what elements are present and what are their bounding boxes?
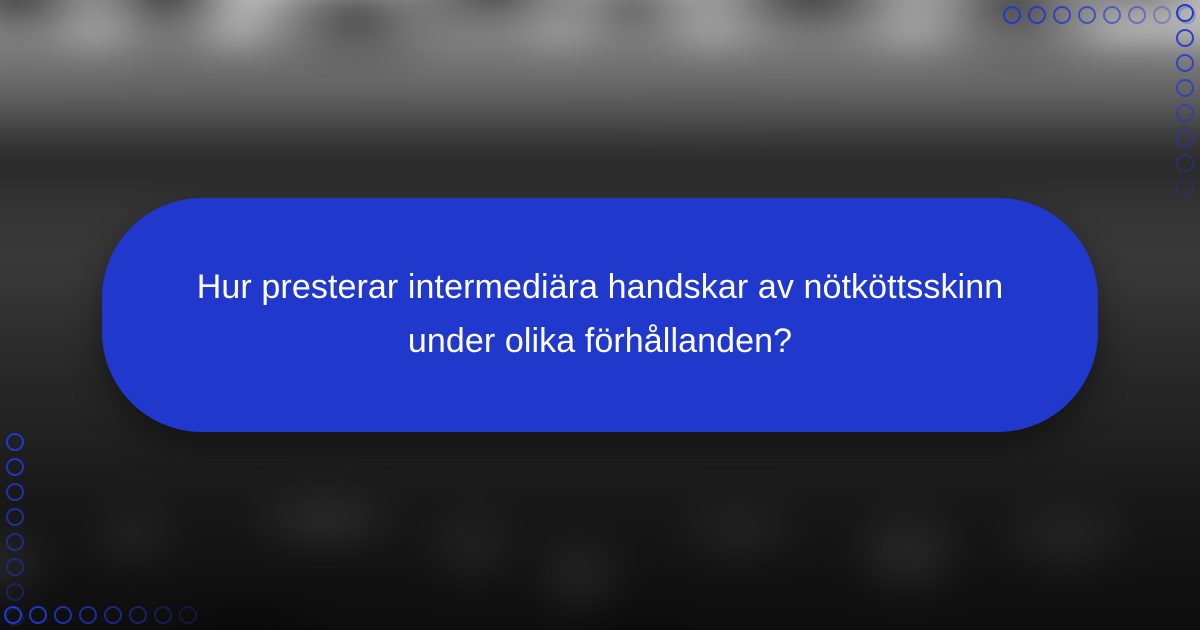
question-card: Hur presterar intermediära handskar av n… (102, 198, 1098, 432)
share-card-canvas: Hur presterar intermediära handskar av n… (0, 0, 1200, 630)
question-title: Hur presterar intermediära handskar av n… (180, 261, 1020, 368)
